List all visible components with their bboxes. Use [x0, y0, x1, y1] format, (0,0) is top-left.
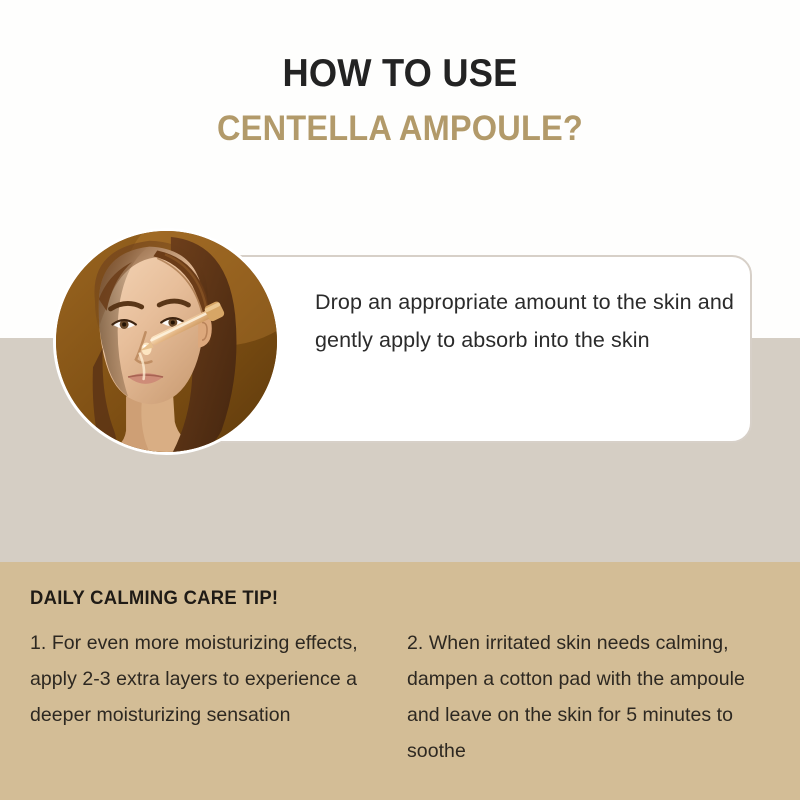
tip-item-2: 2. When irritated skin needs calming, da… — [407, 625, 775, 769]
tip-columns: 1. For even more moisturizing effects, a… — [30, 625, 775, 769]
tip-item-1: 1. For even more moisturizing effects, a… — [30, 625, 385, 769]
title-line-product: CENTELLA AMPOULE? — [28, 109, 772, 149]
title-line-primary: HOW TO USE — [28, 52, 772, 96]
promo-graphic: HOW TO USE CENTELLA AMPOULE? Drop an app… — [0, 0, 800, 800]
instruction-text: Drop an appropriate amount to the skin a… — [315, 283, 735, 359]
tip-heading: DAILY CALMING CARE TIP! — [30, 588, 278, 610]
model-photo — [53, 228, 280, 455]
page-title: HOW TO USE CENTELLA AMPOULE? — [0, 52, 800, 149]
model-photo-illustration — [56, 231, 277, 452]
